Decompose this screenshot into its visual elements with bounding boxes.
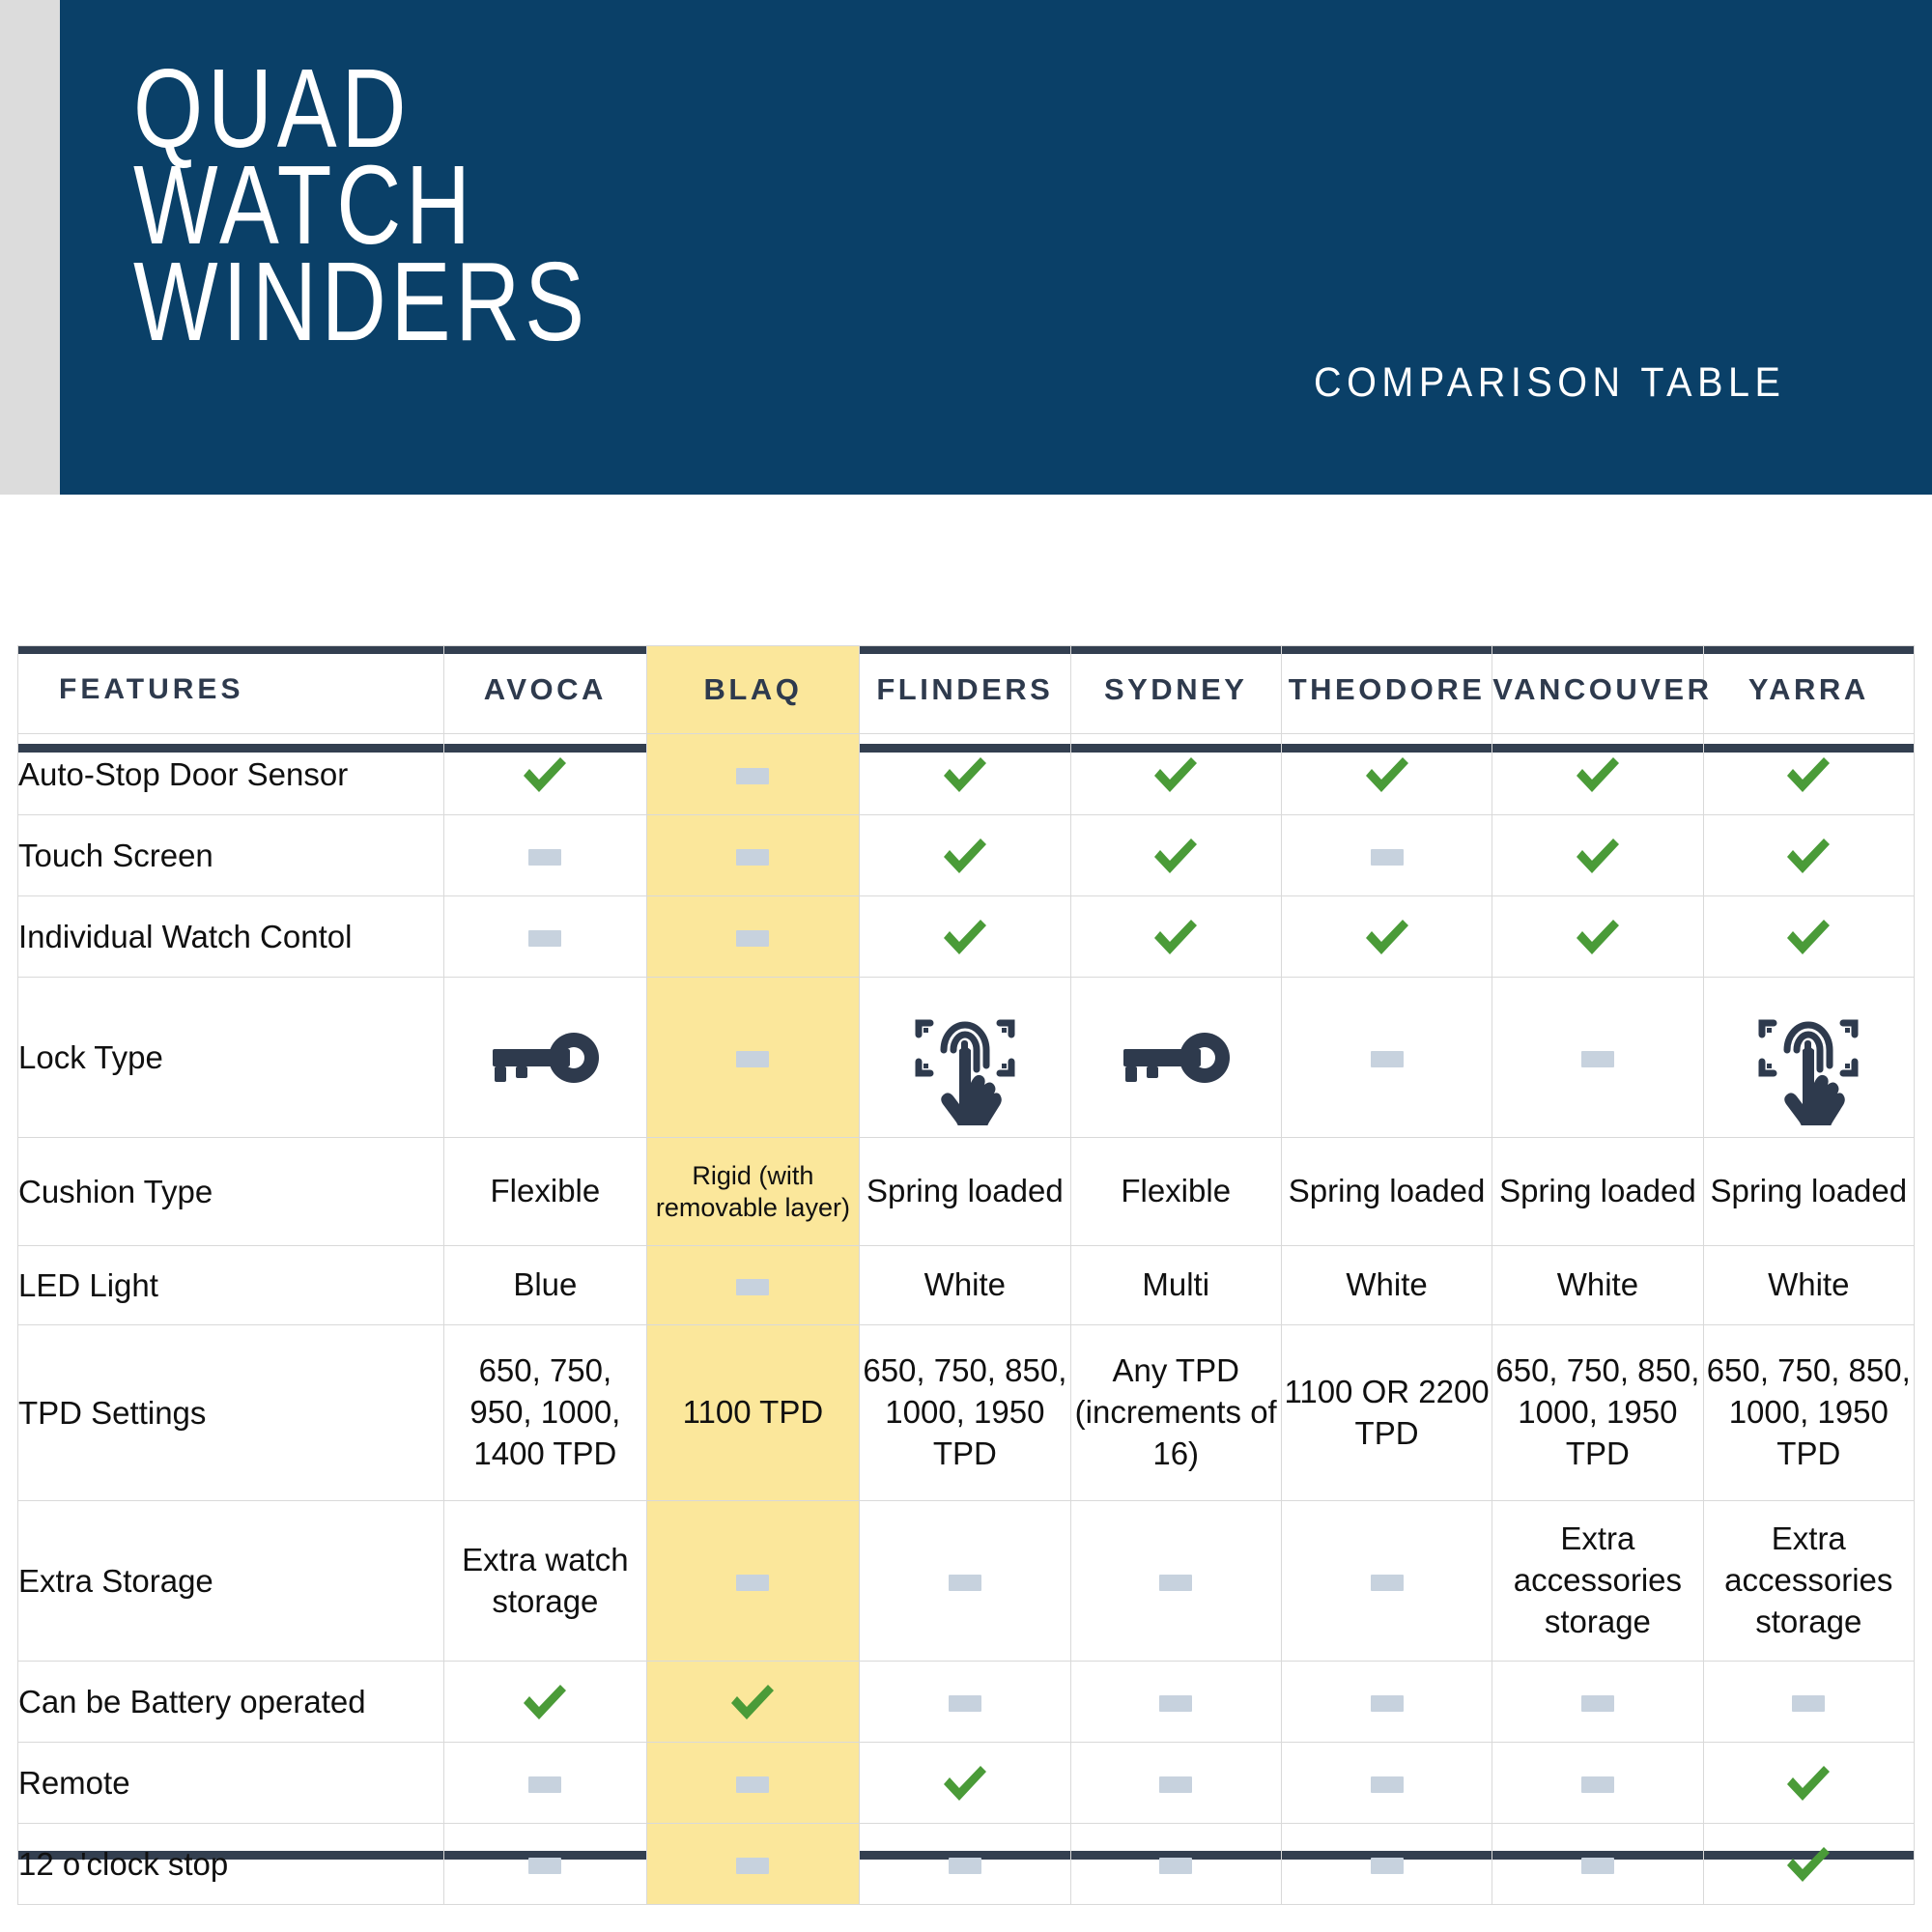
not-available-dash-icon — [1159, 1776, 1192, 1793]
cell-sydney — [1070, 1662, 1281, 1743]
cell-flinders: Spring loaded — [860, 1138, 1070, 1246]
cell-avoca — [444, 734, 647, 815]
cell-avoca: 650, 750, 950, 1000, 1400 TPD — [444, 1325, 647, 1501]
cell-blaq — [646, 1246, 860, 1325]
not-available-dash-icon — [528, 930, 561, 947]
not-available-dash-icon — [1792, 1695, 1825, 1712]
not-available-dash-icon — [528, 849, 561, 866]
not-available-dash-icon — [1371, 1776, 1404, 1793]
cell-avoca — [444, 815, 647, 896]
cell-sydney: Flexible — [1070, 1138, 1281, 1246]
cell-blaq — [646, 896, 860, 978]
not-available-dash-icon — [1371, 849, 1404, 866]
cell-sydney — [1070, 815, 1281, 896]
check-icon — [1362, 750, 1412, 800]
cell-blaq: Rigid (with removable layer) — [646, 1138, 860, 1246]
cell-vancouver — [1492, 1743, 1703, 1824]
check-icon — [1573, 831, 1623, 881]
feature-label: Individual Watch Contol — [18, 896, 444, 978]
key-icon — [1116, 1024, 1236, 1092]
column-header-yarra[interactable]: YARRA — [1703, 646, 1914, 734]
feature-label: Cushion Type — [18, 1138, 444, 1246]
not-available-dash-icon — [1581, 1858, 1614, 1874]
cell-flinders — [860, 1501, 1070, 1662]
cell-avoca — [444, 1824, 647, 1905]
cell-theodore — [1281, 978, 1492, 1138]
feature-label: Remote — [18, 1743, 444, 1824]
not-available-dash-icon — [1371, 1858, 1404, 1874]
check-icon — [520, 1677, 570, 1727]
column-header-flinders[interactable]: FLINDERS — [860, 646, 1070, 734]
not-available-dash-icon — [736, 1575, 769, 1591]
cell-theodore: White — [1281, 1246, 1492, 1325]
cell-avoca: Blue — [444, 1246, 647, 1325]
table-header-row: FEATURES AVOCABLAQFLINDERSSYDNEYTHEODORE… — [18, 646, 1915, 734]
cell-blaq — [646, 815, 860, 896]
cell-theodore — [1281, 1662, 1492, 1743]
not-available-dash-icon — [1159, 1858, 1192, 1874]
feature-label: Lock Type — [18, 978, 444, 1138]
cell-sydney — [1070, 734, 1281, 815]
not-available-dash-icon — [949, 1858, 981, 1874]
not-available-dash-icon — [1159, 1575, 1192, 1591]
not-available-dash-icon — [949, 1695, 981, 1712]
table-row: 12 o'clock stop — [18, 1824, 1915, 1905]
check-icon — [1573, 750, 1623, 800]
cell-theodore: 1100 OR 2200 TPD — [1281, 1325, 1492, 1501]
cell-flinders — [860, 734, 1070, 815]
not-available-dash-icon — [736, 849, 769, 866]
check-icon — [940, 912, 990, 962]
cell-sydney — [1070, 978, 1281, 1138]
cell-blaq — [646, 978, 860, 1138]
cell-theodore — [1281, 815, 1492, 896]
check-icon — [1783, 1839, 1833, 1889]
column-header-features: FEATURES — [18, 646, 444, 734]
cell-yarra — [1703, 1662, 1914, 1743]
cell-flinders — [860, 815, 1070, 896]
cell-flinders — [860, 978, 1070, 1138]
check-icon — [940, 831, 990, 881]
cell-yarra — [1703, 1743, 1914, 1824]
cell-vancouver: Extra accessories storage — [1492, 1501, 1703, 1662]
cell-avoca — [444, 1743, 647, 1824]
table-row: Auto-Stop Door Sensor — [18, 734, 1915, 815]
cell-theodore — [1281, 734, 1492, 815]
feature-label: 12 o'clock stop — [18, 1824, 444, 1905]
not-available-dash-icon — [528, 1776, 561, 1793]
column-header-vancouver[interactable]: VANCOUVER — [1492, 646, 1703, 734]
header-subtitle: COMPARISON TABLE — [1314, 359, 1785, 407]
cell-vancouver: 650, 750, 850, 1000, 1950 TPD — [1492, 1325, 1703, 1501]
cell-theodore — [1281, 896, 1492, 978]
check-icon — [1151, 912, 1201, 962]
cell-blaq — [646, 1743, 860, 1824]
column-header-avoca[interactable]: AVOCA — [444, 646, 647, 734]
column-header-blaq[interactable]: BLAQ — [646, 646, 860, 734]
not-available-dash-icon — [1371, 1575, 1404, 1591]
not-available-dash-icon — [736, 768, 769, 784]
cell-sydney — [1070, 1824, 1281, 1905]
check-icon — [940, 750, 990, 800]
table-row: Can be Battery operated — [18, 1662, 1915, 1743]
cell-yarra: Spring loaded — [1703, 1138, 1914, 1246]
comparison-table: FEATURES AVOCABLAQFLINDERSSYDNEYTHEODORE… — [17, 645, 1915, 1905]
not-available-dash-icon — [1581, 1051, 1614, 1067]
cell-sydney — [1070, 1501, 1281, 1662]
cell-vancouver: White — [1492, 1246, 1703, 1325]
table-row: Touch Screen — [18, 815, 1915, 896]
table-row: Remote — [18, 1743, 1915, 1824]
cell-theodore: Spring loaded — [1281, 1138, 1492, 1246]
cell-vancouver — [1492, 1662, 1703, 1743]
page-header: QUAD WATCH WINDERS COMPARISON TABLE — [0, 0, 1932, 495]
check-icon — [940, 1758, 990, 1808]
not-available-dash-icon — [528, 1858, 561, 1874]
check-icon — [1151, 831, 1201, 881]
cell-avoca: Flexible — [444, 1138, 647, 1246]
cell-flinders: White — [860, 1246, 1070, 1325]
cell-vancouver: Spring loaded — [1492, 1138, 1703, 1246]
fingerprint-scanner-icon — [905, 990, 1025, 1125]
table-row: Extra StorageExtra watch storageExtra ac… — [18, 1501, 1915, 1662]
not-available-dash-icon — [1159, 1695, 1192, 1712]
cell-blaq — [646, 734, 860, 815]
not-available-dash-icon — [1581, 1695, 1614, 1712]
table-row: TPD Settings650, 750, 950, 1000, 1400 TP… — [18, 1325, 1915, 1501]
check-icon — [1783, 750, 1833, 800]
cell-yarra: 650, 750, 850, 1000, 1950 TPD — [1703, 1325, 1914, 1501]
cell-yarra — [1703, 896, 1914, 978]
cell-sydney: Multi — [1070, 1246, 1281, 1325]
check-icon — [1783, 1758, 1833, 1808]
cell-sydney — [1070, 896, 1281, 978]
fingerprint-scanner-icon — [1748, 990, 1868, 1125]
check-icon — [1362, 912, 1412, 962]
column-header-theodore[interactable]: THEODORE — [1281, 646, 1492, 734]
cell-avoca — [444, 1662, 647, 1743]
cell-yarra — [1703, 734, 1914, 815]
cell-flinders — [860, 1662, 1070, 1743]
not-available-dash-icon — [736, 1776, 769, 1793]
check-icon — [1151, 750, 1201, 800]
cell-yarra: Extra accessories storage — [1703, 1501, 1914, 1662]
cell-vancouver — [1492, 978, 1703, 1138]
cell-yarra — [1703, 978, 1914, 1138]
feature-label: Extra Storage — [18, 1501, 444, 1662]
cell-avoca: Extra watch storage — [444, 1501, 647, 1662]
feature-label: Auto-Stop Door Sensor — [18, 734, 444, 815]
check-icon — [1783, 831, 1833, 881]
table-row: Individual Watch Contol — [18, 896, 1915, 978]
cell-yarra — [1703, 1824, 1914, 1905]
cell-flinders: 650, 750, 850, 1000, 1950 TPD — [860, 1325, 1070, 1501]
cell-flinders — [860, 1743, 1070, 1824]
cell-vancouver — [1492, 734, 1703, 815]
not-available-dash-icon — [736, 1858, 769, 1874]
cell-flinders — [860, 1824, 1070, 1905]
cell-vancouver — [1492, 896, 1703, 978]
not-available-dash-icon — [949, 1575, 981, 1591]
table-body: Auto-Stop Door SensorTouch ScreenIndivid… — [18, 734, 1915, 1905]
feature-label: Can be Battery operated — [18, 1662, 444, 1743]
not-available-dash-icon — [1371, 1695, 1404, 1712]
not-available-dash-icon — [1581, 1776, 1614, 1793]
cell-vancouver — [1492, 1824, 1703, 1905]
cell-vancouver — [1492, 815, 1703, 896]
cell-blaq — [646, 1501, 860, 1662]
cell-flinders — [860, 896, 1070, 978]
cell-avoca — [444, 896, 647, 978]
check-icon — [1573, 912, 1623, 962]
feature-label: TPD Settings — [18, 1325, 444, 1501]
comparison-table-wrap: FEATURES AVOCABLAQFLINDERSSYDNEYTHEODORE… — [17, 645, 1915, 1905]
cell-blaq — [646, 1662, 860, 1743]
cell-theodore — [1281, 1501, 1492, 1662]
not-available-dash-icon — [736, 1279, 769, 1295]
not-available-dash-icon — [736, 930, 769, 947]
cell-avoca — [444, 978, 647, 1138]
key-icon — [485, 1024, 605, 1092]
page-title: QUAD WATCH WINDERS — [133, 60, 589, 350]
cell-blaq — [646, 1824, 860, 1905]
table-row: Cushion TypeFlexibleRigid (with removabl… — [18, 1138, 1915, 1246]
cell-blaq: 1100 TPD — [646, 1325, 860, 1501]
table-row: LED LightBlueWhiteMultiWhiteWhiteWhite — [18, 1246, 1915, 1325]
cell-sydney — [1070, 1743, 1281, 1824]
check-icon — [1783, 912, 1833, 962]
check-icon — [520, 750, 570, 800]
table-row: Lock Type — [18, 978, 1915, 1138]
cell-yarra — [1703, 815, 1914, 896]
header-left-strip — [0, 0, 60, 495]
feature-label: LED Light — [18, 1246, 444, 1325]
feature-label: Touch Screen — [18, 815, 444, 896]
column-header-sydney[interactable]: SYDNEY — [1070, 646, 1281, 734]
not-available-dash-icon — [736, 1051, 769, 1067]
check-icon — [727, 1677, 778, 1727]
not-available-dash-icon — [1371, 1051, 1404, 1067]
cell-sydney: Any TPD (increments of 16) — [1070, 1325, 1281, 1501]
cell-theodore — [1281, 1824, 1492, 1905]
cell-theodore — [1281, 1743, 1492, 1824]
cell-yarra: White — [1703, 1246, 1914, 1325]
